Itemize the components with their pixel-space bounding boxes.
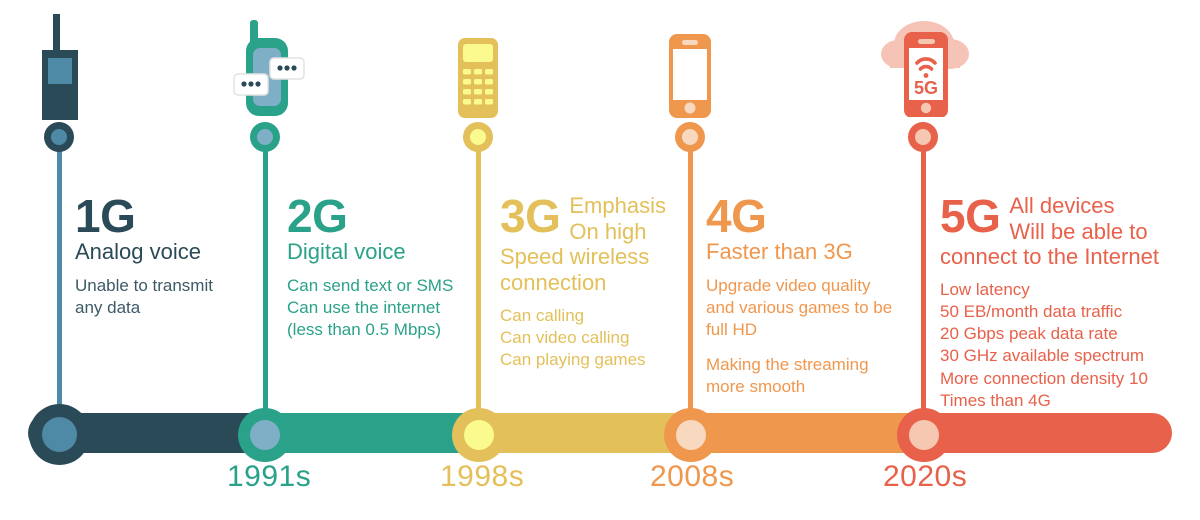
generation-label-4g: 4G xyxy=(706,195,766,237)
top-node-2g-inner xyxy=(257,129,273,145)
year-label-2g: 1991s xyxy=(227,460,311,494)
headline-3g: Speed wireless connection xyxy=(500,244,690,295)
top-node-3g-inner xyxy=(470,129,486,145)
stem-1g xyxy=(57,148,62,423)
top-node-4g-inner xyxy=(682,129,698,145)
network-generations-timeline-infographic: 5G 1G Analog voice Unable to transmit an… xyxy=(0,0,1200,520)
stem-5g xyxy=(921,148,926,423)
text-block-4g: 4G Faster than 3G Upgrade video quality … xyxy=(706,193,921,398)
brick-phone-icon xyxy=(28,14,92,127)
details-4g-group-1: Upgrade video quality and various games … xyxy=(706,266,921,341)
node-4g[interactable] xyxy=(664,408,718,462)
text-block-2g: 2G Digital voice Can send text or SMS Ca… xyxy=(287,193,477,341)
bar-segment-4g xyxy=(689,413,928,453)
text-block-1g: 1G Analog voice Unable to transmit any d… xyxy=(75,193,255,319)
details-4g-group-2: Making the streaming more smooth xyxy=(706,341,921,398)
top-node-3g xyxy=(463,122,493,152)
details-3g: Can calling Can video calling Can playin… xyxy=(500,296,690,371)
text-block-5g: 5G All devices Will be able to connect t… xyxy=(940,193,1185,412)
text-block-3g: 3G Emphasis On high Speed wireless conne… xyxy=(500,193,690,371)
node-3g[interactable] xyxy=(452,408,506,462)
top-node-5g xyxy=(908,122,938,152)
sms-bubble-left xyxy=(234,74,268,95)
node-3g-inner xyxy=(464,420,494,450)
smartphone-icon xyxy=(669,34,711,123)
node-2g-inner xyxy=(250,420,280,450)
generation-label-3g: 3G xyxy=(500,195,560,237)
bar-segment-5g xyxy=(928,413,1172,453)
keypad-phone-icon xyxy=(458,38,498,123)
generation-label-2g: 2G xyxy=(287,195,347,237)
top-node-2g xyxy=(250,122,280,152)
candybar-phone-sms-icon xyxy=(232,20,308,125)
details-2g: Can send text or SMS Can use the interne… xyxy=(287,266,477,341)
year-label-3g: 1998s xyxy=(440,460,524,494)
headline-2g: Digital voice xyxy=(287,237,477,265)
node-2g[interactable] xyxy=(238,408,292,462)
generation-label-1g: 1G xyxy=(75,195,135,237)
top-node-1g-inner xyxy=(51,129,67,145)
smartphone-5g-cloud-icon: 5G xyxy=(874,12,974,122)
node-4g-inner xyxy=(676,420,706,450)
top-node-4g xyxy=(675,122,705,152)
details-1g: Unable to transmit any data xyxy=(75,266,255,319)
headline-4g: Faster than 3G xyxy=(706,237,921,265)
node-1g-inner xyxy=(42,417,77,452)
node-5g-inner xyxy=(909,420,939,450)
details-5g: Low latency 50 EB/month data traffic 20 … xyxy=(940,270,1185,412)
node-5g[interactable] xyxy=(897,408,951,462)
stem-2g xyxy=(263,148,268,423)
sms-bubble-right xyxy=(270,58,304,79)
screen-5g-label: 5G xyxy=(914,78,938,98)
year-label-5g: 2020s xyxy=(883,460,967,494)
timeline-bar xyxy=(28,413,1172,453)
headline-5g: connect to the Internet xyxy=(940,244,1185,270)
generation-label-5g: 5G xyxy=(940,195,1000,237)
node-1g[interactable] xyxy=(29,404,90,465)
top-node-5g-inner xyxy=(915,129,931,145)
headline-1g: Analog voice xyxy=(75,237,255,265)
year-label-4g: 2008s xyxy=(650,460,734,494)
